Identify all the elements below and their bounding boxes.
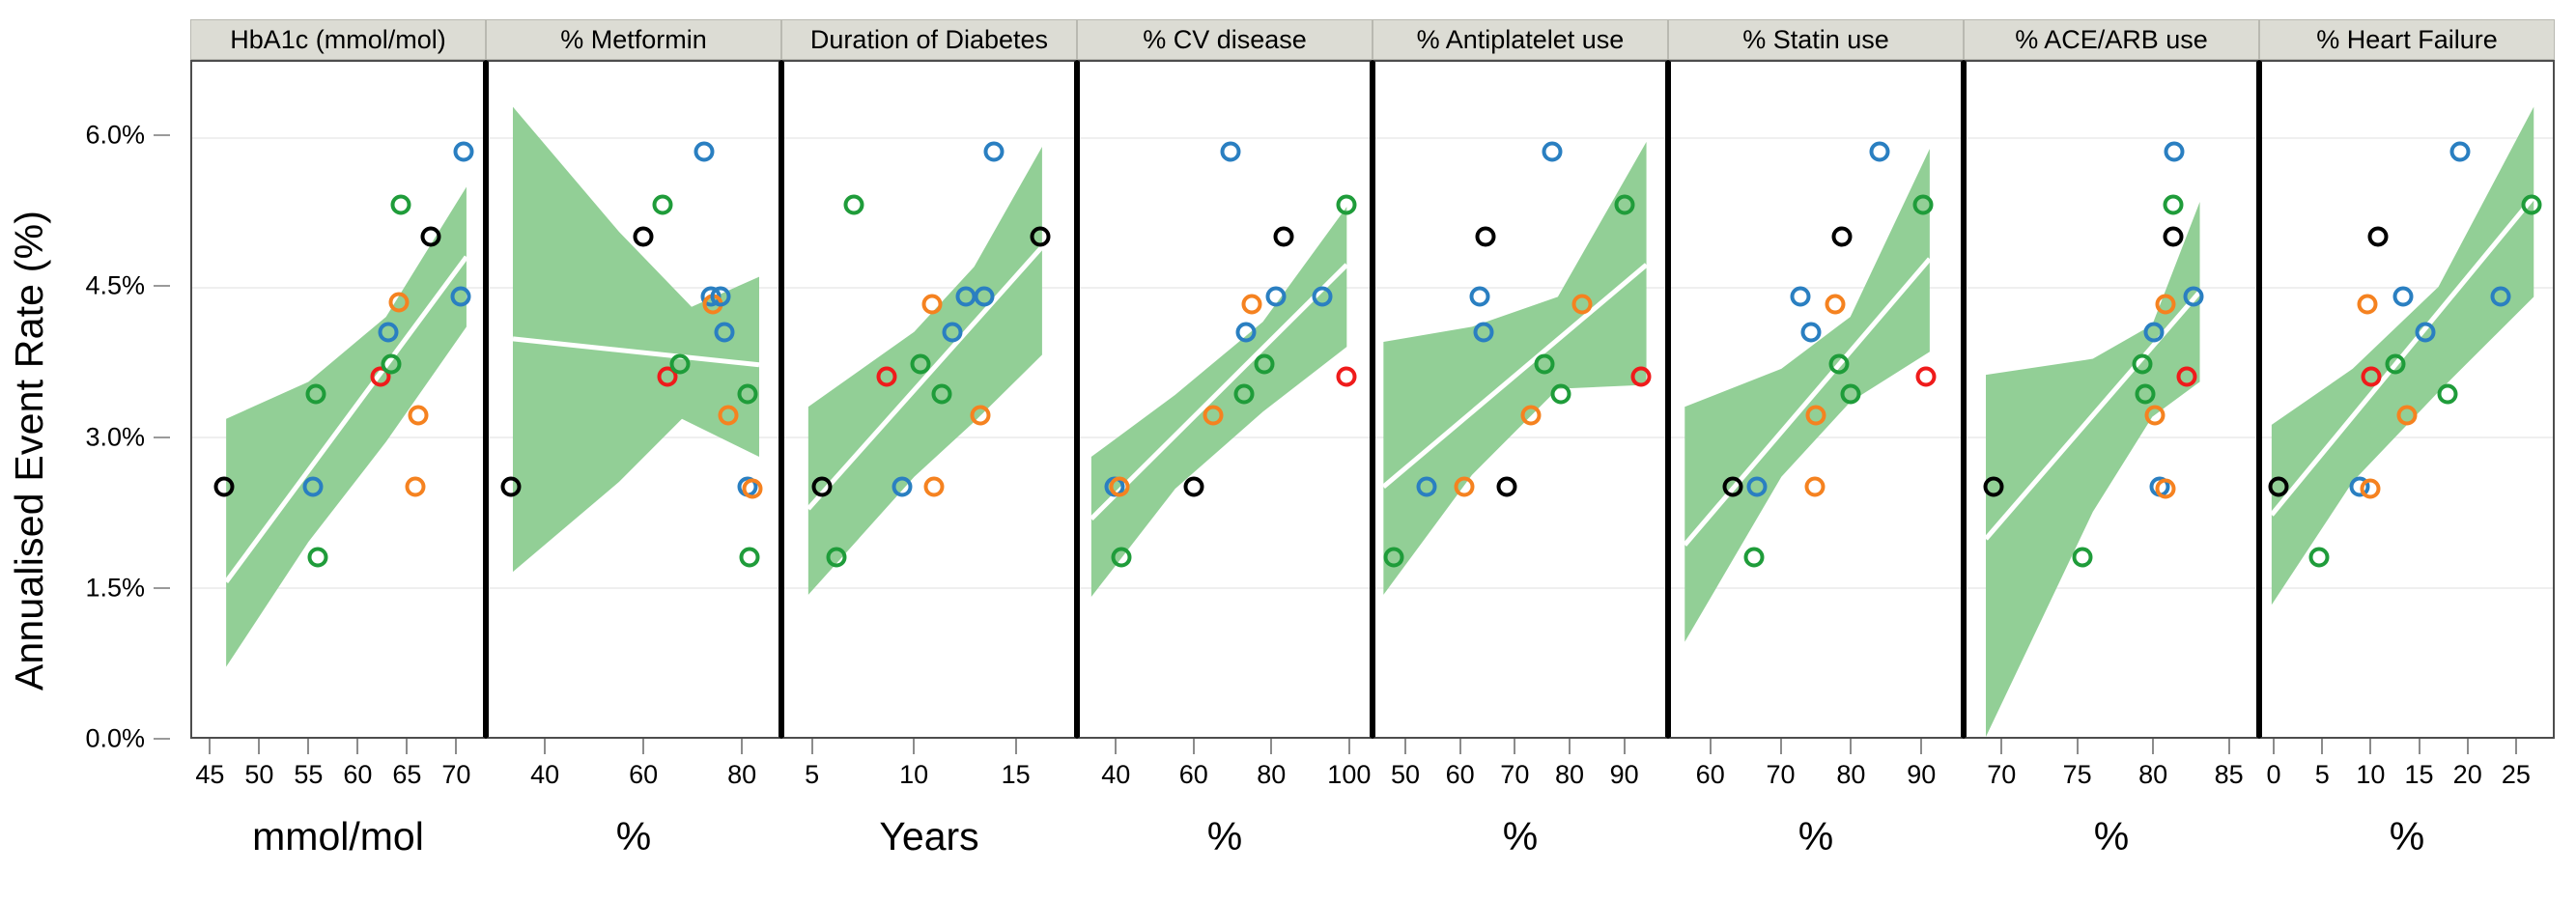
x-axis-title-duration: Years bbox=[781, 814, 1077, 859]
x-tick-label-1: 10 bbox=[899, 760, 928, 790]
plot-area-duration bbox=[781, 60, 1077, 739]
y-tick-label-0: 0.0% bbox=[85, 724, 145, 754]
x-tick-mark-2 bbox=[1850, 739, 1852, 754]
x-axis-title-antiplatelet: % bbox=[1373, 814, 1668, 859]
data-point bbox=[1615, 195, 1635, 215]
data-point bbox=[711, 287, 731, 307]
y-tick-label-2: 3.0% bbox=[85, 422, 145, 452]
x-axis-aceuse: 70758085% bbox=[1964, 739, 2259, 901]
data-point bbox=[1832, 227, 1853, 247]
x-tick-mark-0 bbox=[1115, 739, 1117, 754]
data-point bbox=[1912, 195, 1933, 215]
data-point bbox=[844, 195, 864, 215]
data-point bbox=[1255, 353, 1275, 374]
data-point bbox=[1337, 367, 1357, 387]
panel-antiplatelet: % Antiplatelet use bbox=[1373, 19, 1668, 739]
x-tick-mark-1 bbox=[1459, 739, 1461, 754]
x-tick-mark-2 bbox=[307, 739, 309, 754]
y-tick-mark-1 bbox=[154, 587, 170, 589]
data-point bbox=[388, 292, 409, 312]
data-point bbox=[1474, 322, 1494, 342]
x-tick-label-1: 60 bbox=[1179, 760, 1208, 790]
data-point bbox=[634, 227, 654, 247]
data-point bbox=[2368, 227, 2389, 247]
x-axis-title-aceuse: % bbox=[1964, 814, 2259, 859]
data-point bbox=[450, 287, 470, 307]
x-tick-mark-1 bbox=[2077, 739, 2079, 754]
x-tick-mark-0 bbox=[2000, 739, 2002, 754]
data-point bbox=[2393, 287, 2414, 307]
panel-strip-label-antiplatelet: % Antiplatelet use bbox=[1373, 19, 1668, 60]
data-point bbox=[1112, 547, 1132, 567]
x-tick-label-0: 5 bbox=[805, 760, 819, 790]
data-point bbox=[1274, 227, 1294, 247]
data-point bbox=[1416, 477, 1436, 497]
data-point bbox=[669, 353, 690, 374]
x-axis-duration: 51015Years bbox=[781, 739, 1077, 901]
x-tick-label-5: 70 bbox=[441, 760, 470, 790]
x-tick-label-0: 40 bbox=[1101, 760, 1130, 790]
data-point bbox=[1475, 227, 1495, 247]
data-point bbox=[922, 294, 943, 314]
x-tick-mark-1 bbox=[913, 739, 915, 754]
data-point bbox=[2156, 479, 2176, 499]
data-point bbox=[1233, 383, 1254, 404]
x-tick-mark-3 bbox=[1569, 739, 1571, 754]
x-axis-heartfailure: 0510152025% bbox=[2259, 739, 2555, 901]
data-point bbox=[1543, 142, 1563, 162]
x-tick-label-0: 70 bbox=[1987, 760, 2016, 790]
x-axis-antiplatelet: 5060708090% bbox=[1373, 739, 1668, 901]
confidence-band-duration bbox=[784, 62, 1074, 737]
x-tick-mark-2 bbox=[741, 739, 743, 754]
x-axis-title-hba1c: mmol/mol bbox=[190, 814, 486, 859]
data-point bbox=[2362, 367, 2382, 387]
data-point bbox=[718, 405, 738, 425]
x-tick-label-2: 70 bbox=[1500, 760, 1529, 790]
data-point bbox=[942, 322, 962, 342]
y-tick-mark-3 bbox=[154, 285, 170, 287]
panel-cvdisease: % CV disease bbox=[1077, 19, 1373, 739]
data-point bbox=[1916, 367, 1937, 387]
x-tick-label-1: 50 bbox=[244, 760, 273, 790]
y-tick-label-4: 6.0% bbox=[85, 121, 145, 151]
x-tick-label-2: 80 bbox=[2138, 760, 2167, 790]
x-tick-mark-0 bbox=[811, 739, 813, 754]
panel-strip-label-statin: % Statin use bbox=[1668, 19, 1964, 60]
x-tick-mark-0 bbox=[1710, 739, 1712, 754]
data-point bbox=[1801, 322, 1822, 342]
x-tick-label-3: 60 bbox=[343, 760, 372, 790]
data-point bbox=[2386, 353, 2406, 374]
data-point bbox=[381, 353, 401, 374]
data-point bbox=[694, 142, 714, 162]
data-point bbox=[1631, 367, 1652, 387]
panel-aceuse: % ACE/ARB use bbox=[1964, 19, 2259, 739]
plot-area-aceuse bbox=[1964, 60, 2259, 739]
x-tick-mark-3 bbox=[1920, 739, 1922, 754]
x-tick-mark-2 bbox=[1270, 739, 1272, 754]
x-tick-mark-0 bbox=[1404, 739, 1406, 754]
data-point bbox=[1110, 477, 1130, 497]
x-tick-mark-1 bbox=[1780, 739, 1782, 754]
x-tick-label-1: 60 bbox=[629, 760, 658, 790]
data-point bbox=[1743, 547, 1764, 567]
x-tick-mark-0 bbox=[544, 739, 546, 754]
plot-area-cvdisease bbox=[1077, 60, 1373, 739]
x-tick-label-1: 75 bbox=[2063, 760, 2092, 790]
panel-statin: % Statin use bbox=[1668, 19, 1964, 739]
data-point bbox=[1203, 405, 1224, 425]
data-point bbox=[1184, 477, 1204, 497]
panel-strip-label-aceuse: % ACE/ARB use bbox=[1964, 19, 2259, 60]
panel-duration: Duration of Diabetes bbox=[781, 19, 1077, 739]
data-point bbox=[2163, 227, 2183, 247]
x-tick-label-5: 25 bbox=[2502, 760, 2531, 790]
y-tick-label-3: 4.5% bbox=[85, 271, 145, 301]
panel-strip-label-hba1c: HbA1c (mmol/mol) bbox=[190, 19, 486, 60]
x-axis-statin: 60708090% bbox=[1668, 739, 1964, 901]
data-point bbox=[500, 477, 521, 497]
x-axis-title-metformin: % bbox=[486, 814, 781, 859]
data-point bbox=[984, 142, 1005, 162]
confidence-band-cvdisease bbox=[1080, 62, 1370, 737]
data-point bbox=[2184, 287, 2204, 307]
data-point bbox=[1723, 477, 1743, 497]
data-point bbox=[1828, 353, 1849, 374]
panel-strip-label-metformin: % Metformin bbox=[486, 19, 781, 60]
panel-strip-label-cvdisease: % CV disease bbox=[1077, 19, 1373, 60]
data-point bbox=[2397, 405, 2418, 425]
x-tick-mark-3 bbox=[2228, 739, 2230, 754]
data-point bbox=[1312, 287, 1332, 307]
data-point bbox=[405, 477, 425, 497]
panel-strip-label-duration: Duration of Diabetes bbox=[781, 19, 1077, 60]
data-point bbox=[306, 383, 326, 404]
x-tick-mark-2 bbox=[1015, 739, 1017, 754]
x-tick-label-2: 10 bbox=[2356, 760, 2385, 790]
data-point bbox=[2163, 195, 2183, 215]
data-point bbox=[2073, 547, 2093, 567]
data-point bbox=[876, 367, 896, 387]
data-point bbox=[737, 383, 757, 404]
data-point bbox=[2309, 547, 2330, 567]
x-tick-label-4: 65 bbox=[392, 760, 421, 790]
data-point bbox=[2135, 383, 2155, 404]
data-point bbox=[1454, 477, 1474, 497]
x-axis-title-cvdisease: % bbox=[1077, 814, 1373, 859]
x-axis-hba1c: 455055606570mmol/mol bbox=[190, 739, 486, 901]
plot-area-heartfailure bbox=[2259, 60, 2555, 739]
x-tick-mark-4 bbox=[1624, 739, 1626, 754]
confidence-band-antiplatelet bbox=[1375, 62, 1665, 737]
data-point bbox=[1826, 294, 1846, 314]
confidence-band-hba1c bbox=[192, 62, 483, 737]
data-point bbox=[1235, 322, 1256, 342]
x-tick-label-2: 80 bbox=[727, 760, 756, 790]
data-point bbox=[740, 547, 760, 567]
y-tick-label-1: 1.5% bbox=[85, 573, 145, 603]
data-point bbox=[1241, 294, 1261, 314]
x-tick-label-3: 15 bbox=[2405, 760, 2434, 790]
data-point bbox=[974, 287, 994, 307]
x-tick-label-0: 0 bbox=[2267, 760, 2281, 790]
x-tick-mark-4 bbox=[406, 739, 408, 754]
data-point bbox=[408, 405, 428, 425]
x-tick-mark-3 bbox=[1348, 739, 1350, 754]
data-point bbox=[1571, 294, 1592, 314]
data-point bbox=[2165, 142, 2185, 162]
data-point bbox=[2522, 195, 2542, 215]
x-axes-row: 455055606570mmol/mol406080%51015Years406… bbox=[190, 739, 2555, 901]
data-point bbox=[1470, 287, 1490, 307]
panel-strip-label-heartfailure: % Heart Failure bbox=[2259, 19, 2555, 60]
x-axis-title-statin: % bbox=[1668, 814, 1964, 859]
data-point bbox=[1791, 287, 1811, 307]
data-point bbox=[2145, 405, 2166, 425]
data-point bbox=[2360, 479, 2380, 499]
data-point bbox=[2357, 294, 2377, 314]
y-tick-mark-4 bbox=[154, 134, 170, 136]
plot-area-statin bbox=[1668, 60, 1964, 739]
data-point bbox=[2438, 383, 2458, 404]
y-axis-ticks: 0.0%1.5%3.0%4.5%6.0% bbox=[0, 0, 170, 901]
x-tick-mark-2 bbox=[2152, 739, 2154, 754]
plot-area-antiplatelet bbox=[1373, 60, 1668, 739]
x-tick-mark-3 bbox=[356, 739, 358, 754]
x-axis-cvdisease: 406080100% bbox=[1077, 739, 1373, 901]
data-point bbox=[2176, 367, 2196, 387]
x-tick-mark-3 bbox=[2419, 739, 2420, 754]
data-point bbox=[453, 142, 473, 162]
confidence-band-aceuse bbox=[1967, 62, 2256, 737]
x-tick-label-0: 40 bbox=[530, 760, 559, 790]
confidence-band-statin bbox=[1671, 62, 1961, 737]
data-point bbox=[1521, 405, 1542, 425]
x-tick-label-0: 50 bbox=[1391, 760, 1420, 790]
x-tick-label-4: 90 bbox=[1610, 760, 1639, 790]
x-tick-label-3: 80 bbox=[1555, 760, 1584, 790]
panel-metformin: % Metformin bbox=[486, 19, 781, 739]
data-point bbox=[2268, 477, 2288, 497]
data-point bbox=[826, 547, 846, 567]
data-point bbox=[812, 477, 833, 497]
data-point bbox=[1840, 383, 1860, 404]
data-point bbox=[892, 477, 913, 497]
y-tick-mark-2 bbox=[154, 436, 170, 438]
x-tick-mark-1 bbox=[2321, 739, 2323, 754]
data-point bbox=[2490, 287, 2510, 307]
x-tick-mark-2 bbox=[2369, 739, 2371, 754]
x-tick-mark-4 bbox=[2467, 739, 2469, 754]
x-tick-label-3: 90 bbox=[1907, 760, 1936, 790]
x-tick-label-3: 100 bbox=[1327, 760, 1371, 790]
data-point bbox=[1806, 405, 1826, 425]
panel-heartfailure: % Heart Failure bbox=[2259, 19, 2555, 739]
data-point bbox=[1220, 142, 1240, 162]
panel-hba1c: HbA1c (mmol/mol) bbox=[190, 19, 486, 739]
data-point bbox=[1266, 287, 1287, 307]
data-point bbox=[1535, 353, 1555, 374]
chart-root: Annualised Event Rate (%) 0.0%1.5%3.0%4.… bbox=[0, 0, 2576, 901]
data-point bbox=[1747, 477, 1768, 497]
data-point bbox=[653, 195, 673, 215]
x-tick-label-0: 60 bbox=[1696, 760, 1725, 790]
panel-grid: HbA1c (mmol/mol)% MetforminDuration of D… bbox=[190, 19, 2555, 739]
x-tick-mark-1 bbox=[258, 739, 260, 754]
data-point bbox=[1550, 383, 1571, 404]
x-tick-label-2: 55 bbox=[294, 760, 323, 790]
data-point bbox=[390, 195, 410, 215]
x-tick-label-2: 15 bbox=[1002, 760, 1031, 790]
data-point bbox=[1337, 195, 1357, 215]
x-tick-mark-5 bbox=[455, 739, 457, 754]
data-point bbox=[2415, 322, 2435, 342]
x-tick-mark-0 bbox=[209, 739, 211, 754]
data-point bbox=[2450, 142, 2471, 162]
data-point bbox=[970, 405, 990, 425]
data-point bbox=[910, 353, 930, 374]
data-point bbox=[715, 322, 735, 342]
y-tick-mark-0 bbox=[154, 738, 170, 740]
data-point bbox=[742, 479, 762, 499]
x-tick-label-1: 60 bbox=[1446, 760, 1475, 790]
data-point bbox=[1384, 547, 1404, 567]
data-point bbox=[303, 477, 324, 497]
confidence-band-metformin bbox=[489, 62, 778, 737]
data-point bbox=[2143, 322, 2164, 342]
x-axis-metformin: 406080% bbox=[486, 739, 781, 901]
data-point bbox=[1983, 477, 2003, 497]
data-point bbox=[1030, 227, 1050, 247]
data-point bbox=[1497, 477, 1517, 497]
x-tick-mark-2 bbox=[1514, 739, 1515, 754]
data-point bbox=[932, 383, 952, 404]
x-tick-label-1: 5 bbox=[2315, 760, 2330, 790]
x-tick-mark-1 bbox=[642, 739, 644, 754]
data-point bbox=[924, 477, 945, 497]
data-point bbox=[1804, 477, 1825, 497]
confidence-band-heartfailure bbox=[2262, 62, 2553, 737]
data-point bbox=[2132, 353, 2152, 374]
plot-area-hba1c bbox=[190, 60, 486, 739]
x-tick-label-0: 45 bbox=[195, 760, 224, 790]
data-point bbox=[2156, 294, 2176, 314]
x-axis-title-heartfailure: % bbox=[2259, 814, 2555, 859]
data-point bbox=[420, 227, 440, 247]
x-tick-mark-1 bbox=[1193, 739, 1195, 754]
data-point bbox=[308, 547, 328, 567]
plot-area-metformin bbox=[486, 60, 781, 739]
x-tick-mark-5 bbox=[2515, 739, 2517, 754]
data-point bbox=[214, 477, 235, 497]
x-tick-mark-0 bbox=[2273, 739, 2275, 754]
data-point bbox=[1870, 142, 1890, 162]
x-tick-label-2: 80 bbox=[1836, 760, 1865, 790]
data-point bbox=[378, 322, 398, 342]
x-tick-label-3: 85 bbox=[2215, 760, 2244, 790]
x-tick-label-1: 70 bbox=[1767, 760, 1796, 790]
x-tick-label-4: 20 bbox=[2453, 760, 2482, 790]
x-tick-label-2: 80 bbox=[1257, 760, 1286, 790]
